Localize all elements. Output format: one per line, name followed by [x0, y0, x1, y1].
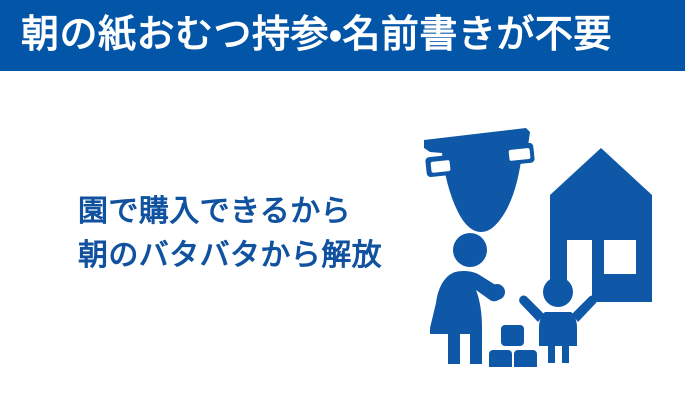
page-title: 朝の紙おむつ持参・名前書きが不要: [21, 16, 612, 56]
copy-line-2: 朝のバタバタから解放: [78, 234, 408, 278]
slide-root: 朝の紙おむつ持参・名前書きが不要 園で購入できるから 朝のバタバタから解放: [0, 0, 685, 415]
body-copy: 園で購入できるから 朝のバタバタから解放: [78, 190, 408, 278]
illustration-svg: [408, 122, 673, 367]
blocks-icon: [489, 325, 537, 367]
copy-line-1: 園で購入できるから: [78, 190, 408, 234]
diaper-icon: [424, 128, 535, 232]
mother-figure-icon: [430, 233, 505, 364]
illustration: [408, 122, 673, 367]
header-banner: 朝の紙おむつ持参・名前書きが不要: [0, 0, 685, 71]
